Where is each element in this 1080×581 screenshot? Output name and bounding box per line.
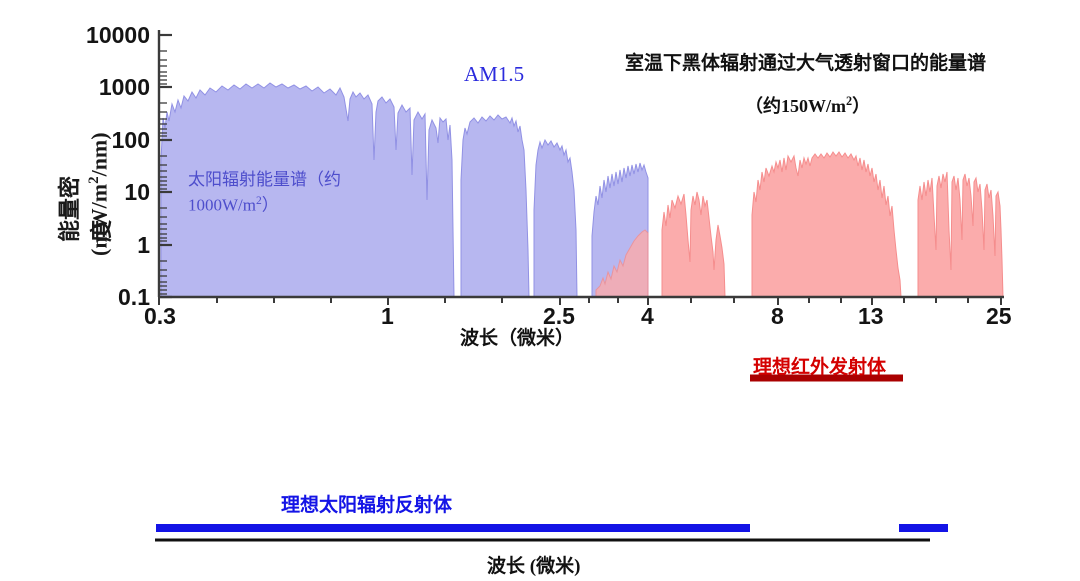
ideal-ir-emitter-label: 理想红外发射体 [753, 352, 886, 379]
ideal-solar-reflector-label: 理想太阳辐射反射体 [281, 490, 452, 517]
ir-band-lwir-main [752, 152, 901, 297]
y-tick-100: 100 [40, 127, 150, 154]
x-axis-title: 波长（微米） [460, 323, 574, 350]
y-tick-0.1: 0.1 [40, 284, 150, 311]
solar-spectrum-annotation: 太阳辐射能量谱（约1000W/m2） [188, 168, 418, 218]
lower-panel-diagram [155, 378, 948, 540]
solar-band-swir1 [461, 115, 529, 297]
lower-panel-x-label: 波长 (微米) [487, 551, 580, 578]
figure-root [0, 0, 1080, 581]
y-tick-10: 10 [40, 179, 150, 206]
blackbody-title-line1: 室温下黑体辐射通过大气透射窗口的能量谱 [625, 48, 986, 75]
y-tick-1: 1 [40, 232, 150, 259]
x-tick-13: 13 [858, 303, 884, 330]
x-tick-25: 25 [986, 303, 1012, 330]
am15-annotation: AM1.5 [464, 62, 524, 87]
y-tick-10000: 10000 [40, 22, 150, 49]
x-tick-4: 4 [641, 303, 654, 330]
ir-band-mwir2 [662, 192, 725, 297]
x-tick-8: 8 [771, 303, 784, 330]
ir-atmospheric-window-series [596, 152, 1003, 297]
ir-band-farir [918, 172, 1003, 297]
blackbody-title-line2: （约150W/m2） [745, 92, 870, 118]
x-tick-0.3: 0.3 [144, 303, 176, 330]
solar-band-swir2 [534, 140, 577, 297]
y-tick-1000: 1000 [40, 74, 150, 101]
x-tick-1: 1 [381, 303, 394, 330]
